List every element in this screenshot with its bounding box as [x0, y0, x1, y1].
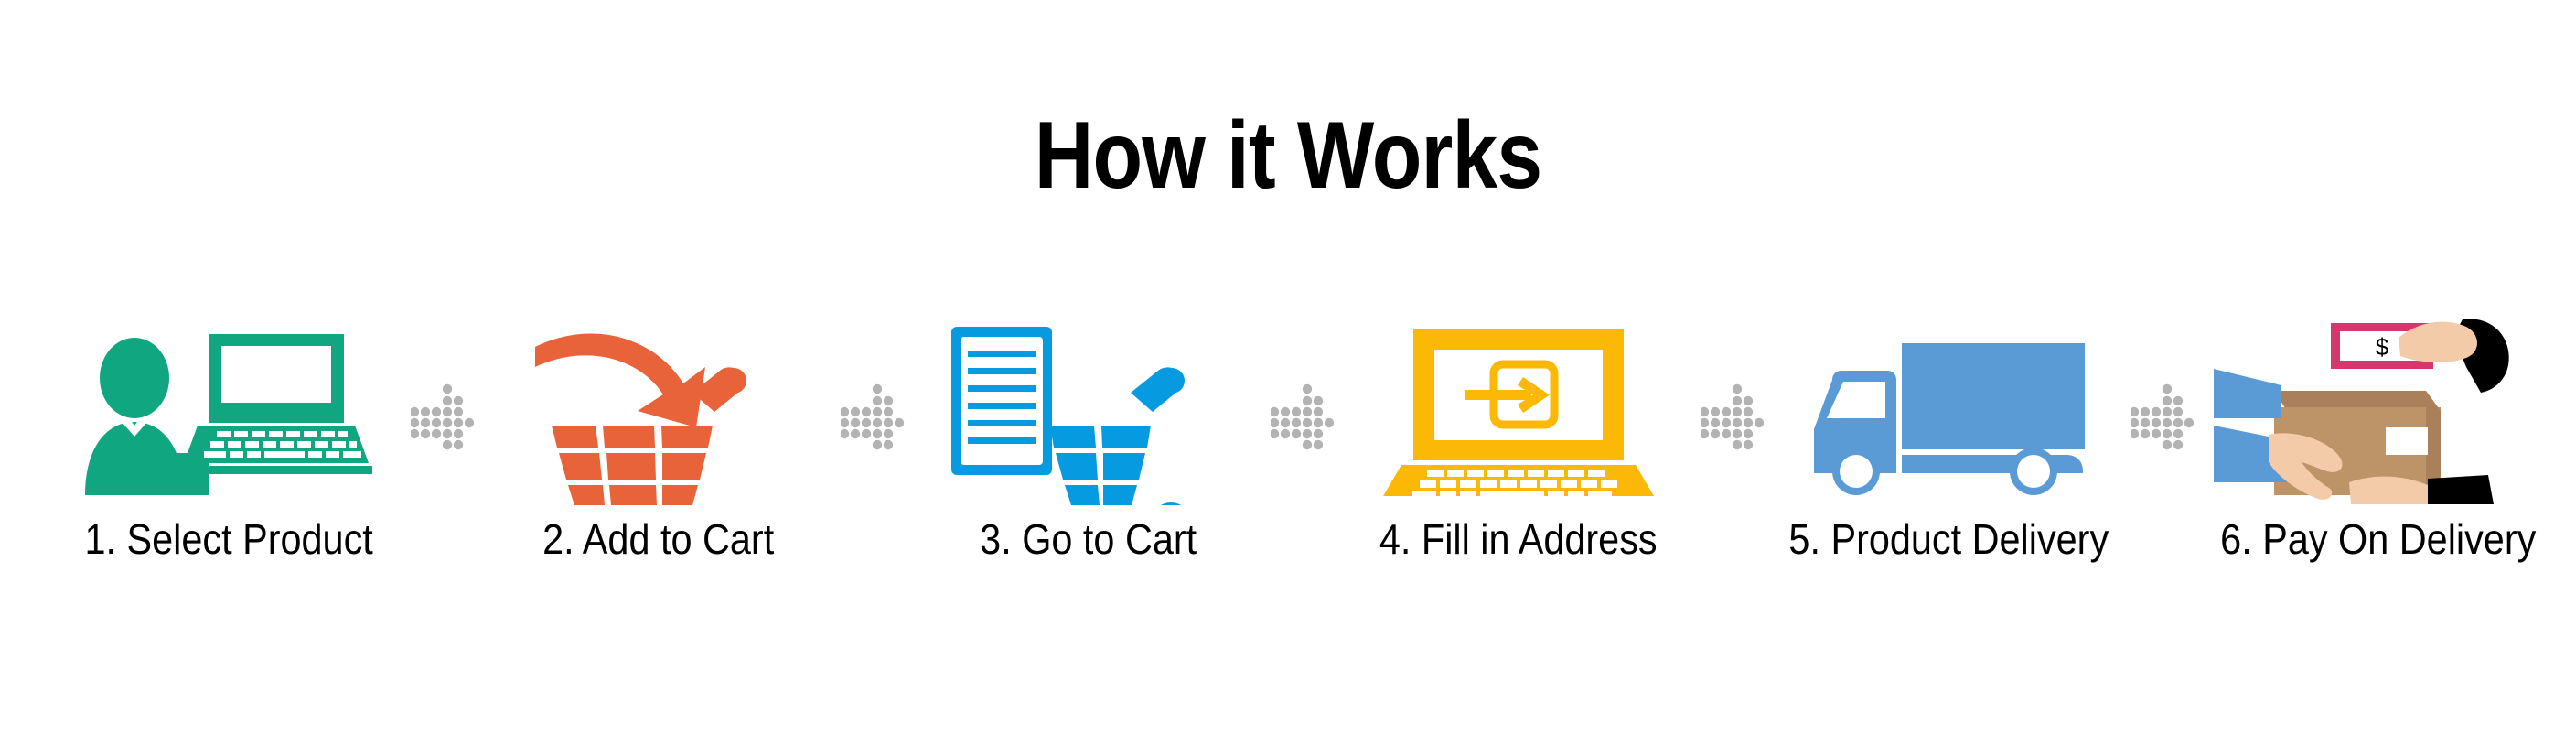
- step-label: 4. Fill in Address: [1379, 517, 1658, 561]
- step-1-select-product: 1. Select Product: [55, 322, 402, 597]
- dotted-arrow-right-icon: [402, 322, 485, 510]
- how-it-works-infographic: How it Works: [0, 0, 2576, 745]
- dotted-arrow-right-icon: [1692, 322, 1775, 510]
- person-with-laptop-icon: [55, 322, 402, 510]
- dotted-arrow-right-icon: [832, 322, 915, 510]
- svg-text:$: $: [2376, 333, 2389, 361]
- laptop-with-enter-arrow-icon: [1345, 322, 1692, 510]
- document-with-cart-icon: [915, 322, 1262, 510]
- step-label: 6. Pay On Delivery: [2220, 517, 2536, 561]
- delivery-truck-icon: [1775, 322, 2122, 510]
- step-label: 5. Product Delivery: [1788, 517, 2109, 561]
- step-4-fill-in-address: 4. Fill in Address: [1345, 322, 1692, 597]
- dotted-arrow-right-icon: [2122, 322, 2205, 510]
- step-2-add-to-cart: 2. Add to Cart: [485, 322, 832, 597]
- page-title: How it Works: [180, 108, 2396, 203]
- step-5-product-delivery: 5. Product Delivery: [1775, 322, 2122, 597]
- hands-exchange-box-and-money-icon: $: [2205, 322, 2552, 510]
- dotted-arrow-right-icon: [1262, 322, 1345, 510]
- step-label: 2. Add to Cart: [542, 517, 774, 561]
- step-6-pay-on-delivery: $: [2205, 322, 2552, 597]
- step-3-go-to-cart: 3. Go to Cart: [915, 322, 1262, 597]
- cart-with-arrow-icon: [485, 322, 832, 510]
- steps-row: 1. Select Product: [55, 322, 2525, 597]
- step-label: 3. Go to Cart: [980, 517, 1197, 561]
- step-label: 1. Select Product: [84, 517, 372, 561]
